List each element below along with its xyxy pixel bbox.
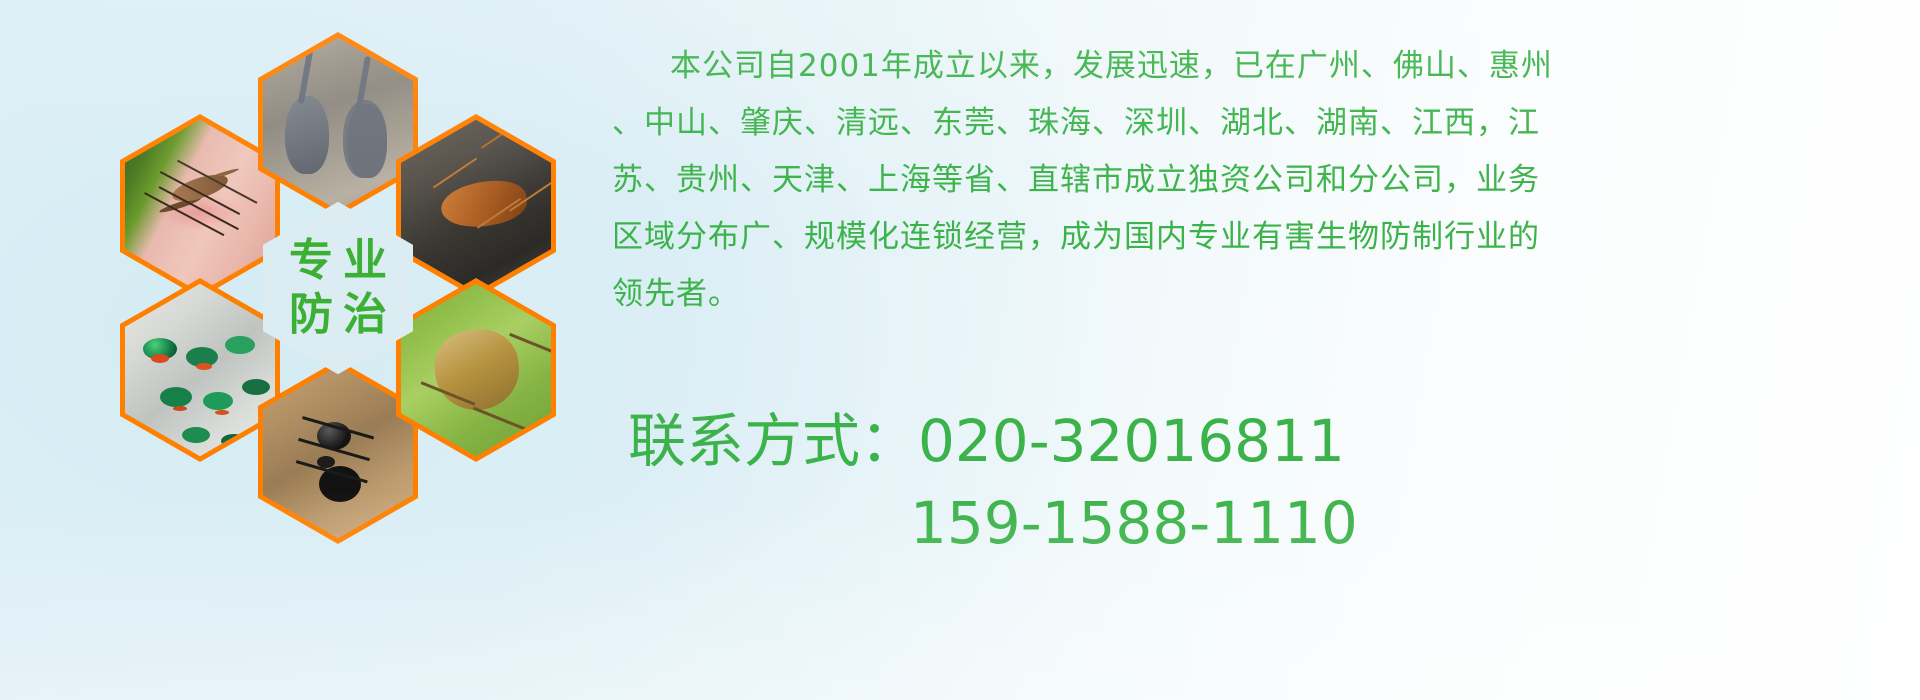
hex-tile-mosquito bbox=[120, 114, 280, 298]
hex-collage: 专业 防治 bbox=[80, 4, 580, 544]
hex-inner-stink-bug bbox=[401, 284, 551, 456]
hex-inner-mosquito bbox=[125, 120, 275, 292]
description-line-3: 苏、贵州、天津、上海等省、直辖市成立独资公司和分公司，业务 bbox=[612, 152, 1902, 209]
hex-inner-cockroach bbox=[401, 120, 551, 292]
description-line-1-text: 本公司自2001年成立以来，发展迅速，已在广州、佛山、惠州 bbox=[670, 48, 1553, 84]
hex-tile-stink-bug bbox=[396, 278, 556, 462]
hex-inner-rats bbox=[263, 38, 413, 210]
description-line-2: 、中山、肇庆、清远、东莞、珠海、深圳、湖北、湖南、江西，江 bbox=[612, 95, 1902, 152]
stink-bug-photo bbox=[401, 284, 551, 456]
contact-line-secondary[interactable]: 159-1588-1110 bbox=[628, 482, 1888, 564]
description-line-4: 区域分布广、规模化连锁经营，成为国内专业有害生物防制行业的 bbox=[612, 209, 1902, 266]
ant-photo bbox=[263, 366, 413, 538]
hex-tile-cockroach bbox=[396, 114, 556, 298]
rats-photo bbox=[263, 38, 413, 210]
hex-inner-ant bbox=[263, 366, 413, 538]
promo-banner: 专业 防治 本公司自2001年成立以来，发展迅速，已在广州、佛山、惠州 、中山、… bbox=[0, 0, 1920, 700]
collage-label-line-2: 防治 bbox=[279, 293, 397, 337]
collage-center-label: 专业 防治 bbox=[258, 196, 418, 380]
contact-block: 联系方式：020-32016811 159-1588-1110 bbox=[628, 400, 1888, 564]
cockroach-photo bbox=[401, 120, 551, 292]
company-description: 本公司自2001年成立以来，发展迅速，已在广州、佛山、惠州 、中山、肇庆、清远、… bbox=[612, 38, 1902, 323]
hex-tile-ant bbox=[258, 360, 418, 544]
description-line-5: 领先者。 bbox=[612, 266, 1902, 323]
mosquito-photo bbox=[125, 120, 275, 292]
flies-photo bbox=[125, 284, 275, 456]
collage-label-line-1: 专业 bbox=[279, 239, 397, 283]
contact-line-primary[interactable]: 联系方式：020-32016811 bbox=[628, 400, 1888, 482]
hex-inner-flies bbox=[125, 284, 275, 456]
hex-tile-rats bbox=[258, 32, 418, 216]
description-line-1: 本公司自2001年成立以来，发展迅速，已在广州、佛山、惠州 bbox=[612, 38, 1902, 95]
hex-tile-flies bbox=[120, 278, 280, 462]
